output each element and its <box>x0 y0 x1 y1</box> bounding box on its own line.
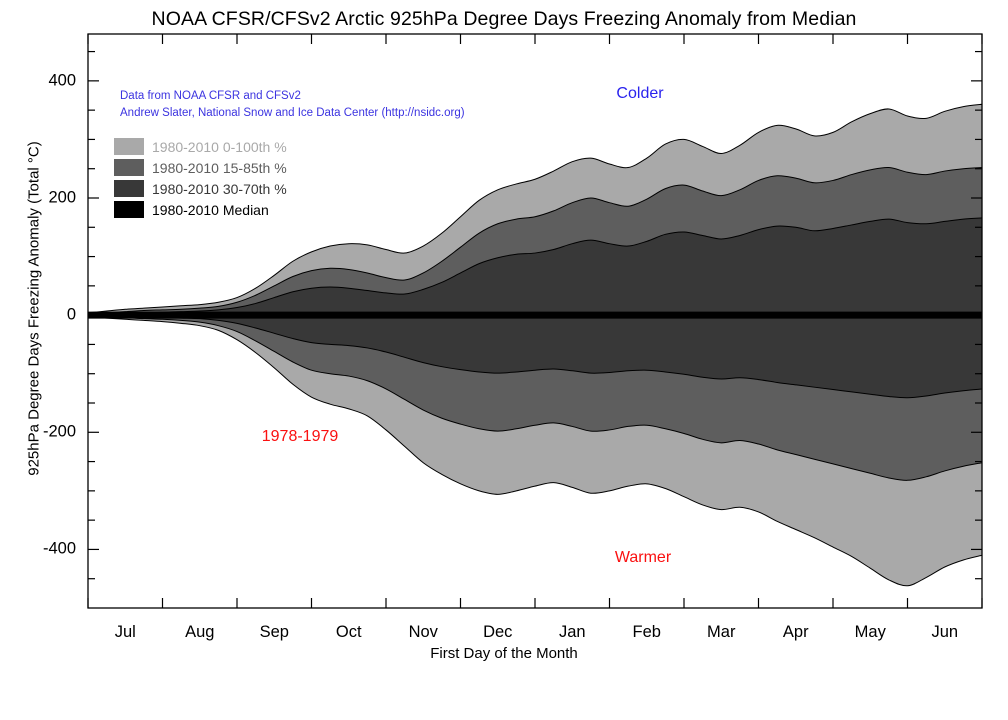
x-tick-label-jan: Jan <box>559 623 586 642</box>
legend-swatch <box>114 138 144 155</box>
legend-swatch <box>114 159 144 176</box>
annotation-warmer: Warmer <box>615 549 671 567</box>
credit-line-2: Andrew Slater, National Snow and Ice Dat… <box>120 107 465 119</box>
legend-swatch <box>114 201 144 218</box>
y-tick-label: 0 <box>16 306 76 325</box>
x-tick-label-oct: Oct <box>336 623 362 642</box>
legend-item: 1980-2010 0-100th % <box>114 138 287 155</box>
chart-title: NOAA CFSR/CFSv2 Arctic 925hPa Degree Day… <box>0 8 1008 31</box>
y-tick-label: -200 <box>16 423 76 442</box>
x-tick-label-dec: Dec <box>483 623 512 642</box>
legend-label: 1980-2010 Median <box>152 202 269 218</box>
x-tick-label-jul: Jul <box>115 623 136 642</box>
x-tick-label-apr: Apr <box>783 623 809 642</box>
legend-label: 1980-2010 0-100th % <box>152 139 287 155</box>
annotation-series-year: 1978-1979 <box>262 428 339 446</box>
x-tick-label-mar: Mar <box>707 623 735 642</box>
x-tick-label-feb: Feb <box>633 623 661 642</box>
legend-item: 1980-2010 15-85th % <box>114 159 287 176</box>
legend-label: 1980-2010 15-85th % <box>152 160 287 176</box>
y-tick-label: 200 <box>16 189 76 208</box>
legend-item: 1980-2010 Median <box>114 201 269 218</box>
chart-canvas: NOAA CFSR/CFSv2 Arctic 925hPa Degree Day… <box>0 0 1008 720</box>
x-tick-label-jun: Jun <box>931 623 958 642</box>
x-axis-label: First Day of the Month <box>0 645 1008 662</box>
x-tick-label-sep: Sep <box>260 623 289 642</box>
y-tick-label: -400 <box>16 540 76 559</box>
legend-item: 1980-2010 30-70th % <box>114 180 287 197</box>
x-tick-label-may: May <box>855 623 886 642</box>
y-tick-label: 400 <box>16 71 76 90</box>
x-tick-label-nov: Nov <box>409 623 438 642</box>
legend-swatch <box>114 180 144 197</box>
x-tick-label-aug: Aug <box>185 623 214 642</box>
credit-line-1: Data from NOAA CFSR and CFSv2 <box>120 90 301 102</box>
legend-label: 1980-2010 30-70th % <box>152 181 287 197</box>
annotation-colder: Colder <box>616 85 663 103</box>
